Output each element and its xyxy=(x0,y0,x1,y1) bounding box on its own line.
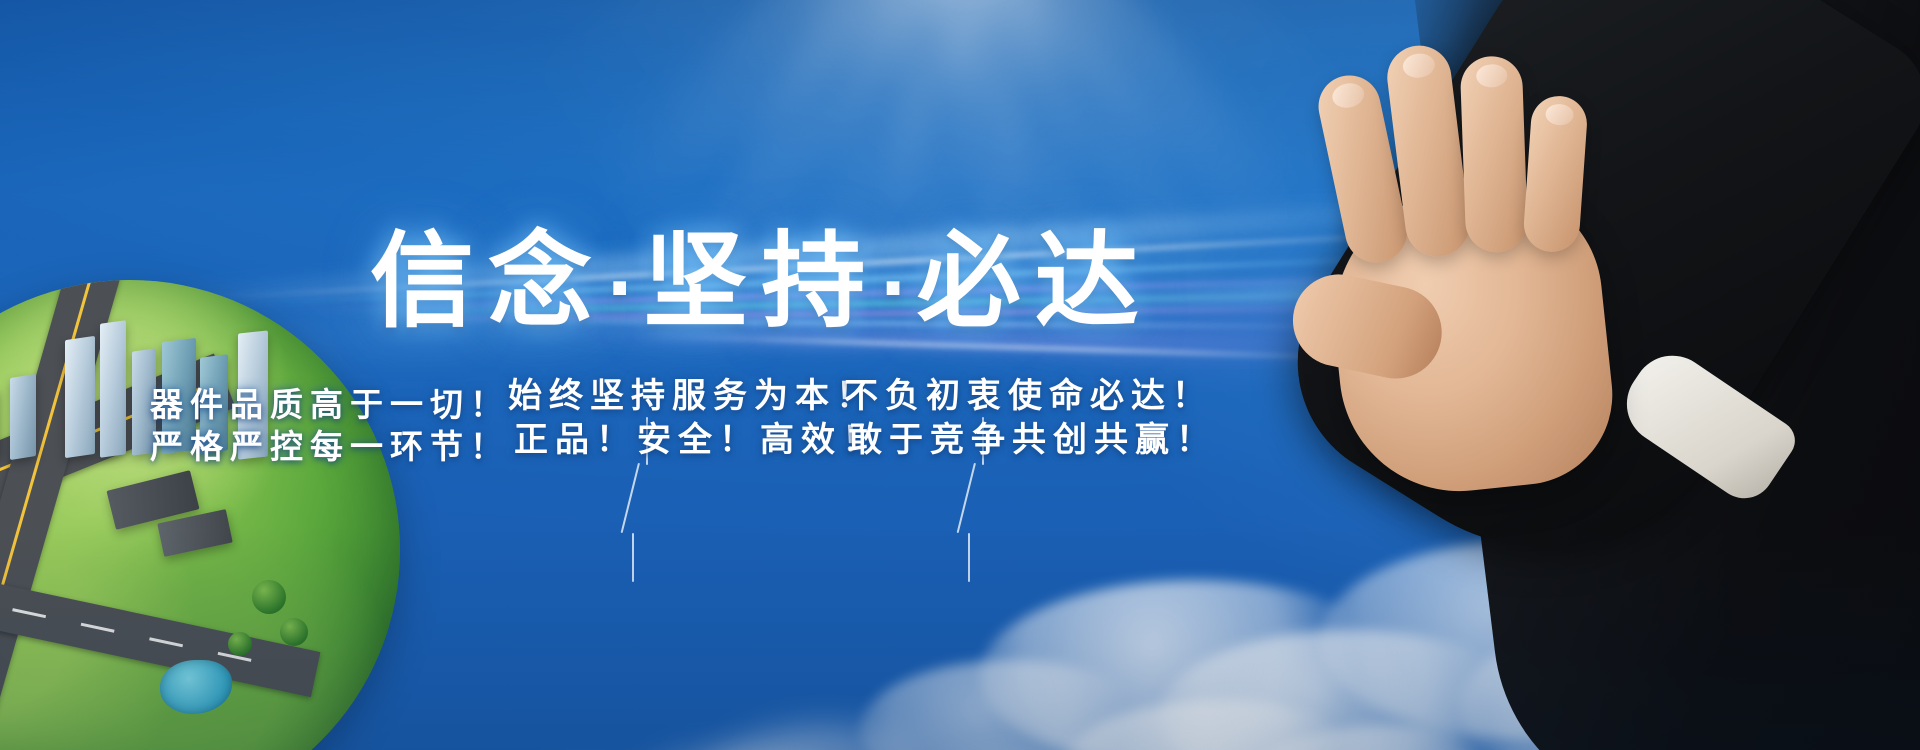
slogan-column-3: 不负初衷使命必达！ 敢于竞争共创共赢！ xyxy=(844,375,1184,462)
slogan-2-line-2: 正品！安全！高效！ xyxy=(508,419,844,463)
headline-part-3: 必达 xyxy=(917,220,1153,342)
road-dash xyxy=(81,623,115,633)
page-title: 信念·坚持·必达 xyxy=(370,196,1153,347)
road-dash xyxy=(149,637,183,647)
finger-pinky xyxy=(1522,94,1589,254)
slogan-3-line-2: 敢于竞争共创共赢！ xyxy=(844,419,1184,463)
building xyxy=(65,336,95,458)
tree xyxy=(252,580,286,614)
fingernail xyxy=(1330,80,1366,110)
promo-banner: on xyxy=(0,0,1920,750)
fingernail xyxy=(1545,103,1574,126)
headline-separator-1: · xyxy=(606,247,643,331)
slogan-group: 器件品质高于一切！ 严格严控每一环节！ 始终坚持服务为本！ 正品！安全！高效！ … xyxy=(150,375,1350,575)
building xyxy=(10,374,36,460)
headline-separator-2: · xyxy=(879,247,916,331)
slogan-3-line-1: 不负初衷使命必达！ xyxy=(844,375,1184,419)
headline-part-1: 信念 xyxy=(370,220,606,342)
headline-part-2: 坚持 xyxy=(643,220,879,342)
finger-ring xyxy=(1460,55,1529,253)
fingernail xyxy=(1476,64,1508,88)
tree xyxy=(280,618,308,646)
building xyxy=(100,320,126,458)
slogan-1-line-1: 器件品质高于一切！ xyxy=(150,384,508,426)
fingernail xyxy=(1401,52,1436,80)
slogan-column-1: 器件品质高于一切！ 严格严控每一环节！ xyxy=(150,375,508,468)
slogan-2-line-1: 始终坚持服务为本！ xyxy=(508,375,844,419)
tree xyxy=(228,632,252,656)
road-dash xyxy=(12,608,46,618)
slogan-1-line-2: 严格严控每一环节！ xyxy=(150,426,508,468)
slogan-column-2: 始终坚持服务为本！ 正品！安全！高效！ xyxy=(508,375,844,462)
